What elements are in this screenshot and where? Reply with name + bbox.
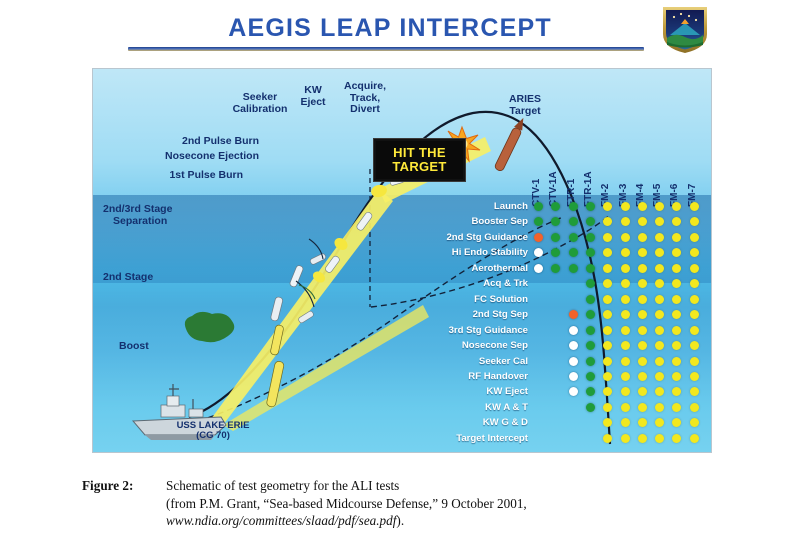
matrix-dot xyxy=(586,341,595,350)
figure-caption: Figure 2: Schematic of test geometry for… xyxy=(82,477,722,530)
matrix-dot xyxy=(672,341,681,350)
matrix-dot xyxy=(655,217,664,226)
caption-url: www.ndia.org/committees/slaad/pdf/sea.pd… xyxy=(166,513,396,528)
matrix-dot xyxy=(603,310,612,319)
caption-line-2: (from P.M. Grant, “Sea-based Midcourse D… xyxy=(166,495,722,513)
matrix-dot xyxy=(638,341,647,350)
matrix-dot xyxy=(586,372,595,381)
matrix-dot xyxy=(655,418,664,427)
matrix-dot xyxy=(672,217,681,226)
matrix-dot xyxy=(690,403,699,412)
matrix-dot xyxy=(621,248,630,257)
matrix-dot xyxy=(586,233,595,242)
matrix-dot xyxy=(638,326,647,335)
matrix-dot xyxy=(638,372,647,381)
caption-line-1: Schematic of test geometry for the ALI t… xyxy=(166,477,722,495)
matrix-dot xyxy=(569,217,578,226)
matrix-dot xyxy=(655,202,664,211)
matrix-row-label: 2nd Stg Guidance xyxy=(446,232,528,243)
title-divider xyxy=(128,47,644,51)
matrix-dot xyxy=(569,310,578,319)
matrix-dot xyxy=(638,264,647,273)
figure-page: AEGIS LEAP INTERCEPT xyxy=(0,0,801,558)
matrix-dot xyxy=(655,233,664,242)
matrix-dot xyxy=(534,217,543,226)
matrix-dot xyxy=(690,310,699,319)
caption-line-3-tail: ). xyxy=(396,513,404,528)
matrix-dot xyxy=(655,434,664,443)
diagram-panel: HIT THE TARGET Seeker Calibration KW Eje… xyxy=(92,68,712,453)
matrix-dot xyxy=(690,248,699,257)
caption-line-3: www.ndia.org/committees/slaad/pdf/sea.pd… xyxy=(166,512,722,530)
matrix-dot xyxy=(621,372,630,381)
matrix-dot xyxy=(534,264,543,273)
matrix-dot xyxy=(638,403,647,412)
matrix-dot xyxy=(603,217,612,226)
matrix-dot xyxy=(638,233,647,242)
matrix-dot xyxy=(638,387,647,396)
matrix-dot xyxy=(586,264,595,273)
matrix-dot xyxy=(690,341,699,350)
matrix-dot xyxy=(603,341,612,350)
matrix-dot xyxy=(672,357,681,366)
matrix-dot xyxy=(672,233,681,242)
matrix-row-label: KW A & T xyxy=(485,402,528,413)
matrix-dot xyxy=(534,248,543,257)
matrix-dot xyxy=(603,279,612,288)
matrix-dot xyxy=(638,434,647,443)
matrix-dot xyxy=(621,217,630,226)
matrix-dot xyxy=(569,387,578,396)
matrix-dot xyxy=(586,279,595,288)
matrix-dot xyxy=(672,310,681,319)
matrix-dot xyxy=(638,310,647,319)
matrix-dot xyxy=(603,233,612,242)
slide-header: AEGIS LEAP INTERCEPT xyxy=(0,0,801,58)
matrix-dot xyxy=(603,295,612,304)
matrix-dot xyxy=(638,248,647,257)
matrix-row-label: Aerothermal xyxy=(471,263,528,274)
matrix-dot xyxy=(551,264,560,273)
matrix-row-label: Acq & Trk xyxy=(483,278,528,289)
matrix-row-label: Seeker Cal xyxy=(479,356,528,367)
matrix-dot xyxy=(569,202,578,211)
matrix-dot xyxy=(638,217,647,226)
matrix-dot xyxy=(534,233,543,242)
matrix-dot xyxy=(655,310,664,319)
matrix-dot xyxy=(586,357,595,366)
matrix-dot xyxy=(551,233,560,242)
matrix-dot xyxy=(569,341,578,350)
matrix-dot xyxy=(655,357,664,366)
matrix-dot xyxy=(690,326,699,335)
matrix-dot xyxy=(586,248,595,257)
matrix-dot xyxy=(621,326,630,335)
matrix-dot xyxy=(621,341,630,350)
matrix-dot xyxy=(621,264,630,273)
matrix-dot xyxy=(569,264,578,273)
matrix-dot xyxy=(621,202,630,211)
matrix-dot xyxy=(586,202,595,211)
matrix-dot xyxy=(672,387,681,396)
caption-label: Figure 2: xyxy=(82,477,133,495)
matrix-dot xyxy=(655,295,664,304)
matrix-row-label: Booster Sep xyxy=(471,216,528,227)
matrix-dot xyxy=(690,279,699,288)
matrix-dot xyxy=(621,418,630,427)
matrix-dot xyxy=(672,434,681,443)
matrix-dot xyxy=(638,202,647,211)
matrix-dot xyxy=(586,403,595,412)
matrix-dot xyxy=(586,295,595,304)
matrix-dot xyxy=(569,248,578,257)
matrix-dot xyxy=(621,295,630,304)
matrix-dot xyxy=(569,326,578,335)
matrix-dot xyxy=(672,326,681,335)
matrix-row-label: FC Solution xyxy=(474,294,528,305)
matrix-dot xyxy=(655,403,664,412)
matrix-dot xyxy=(621,387,630,396)
matrix-dot xyxy=(621,279,630,288)
matrix-dot xyxy=(672,279,681,288)
aegis-shield-emblem xyxy=(657,4,713,56)
matrix-dot xyxy=(603,372,612,381)
matrix-dot xyxy=(655,341,664,350)
matrix-dot xyxy=(603,248,612,257)
matrix-dot xyxy=(690,387,699,396)
matrix-dot xyxy=(672,264,681,273)
matrix-row-label: Launch xyxy=(494,201,528,212)
matrix-row-label: 3rd Stg Guidance xyxy=(449,325,528,336)
matrix-dot xyxy=(621,434,630,443)
matrix-dot xyxy=(621,357,630,366)
matrix-dot xyxy=(603,403,612,412)
matrix-dot xyxy=(603,387,612,396)
matrix-dot xyxy=(690,264,699,273)
matrix-dot xyxy=(655,326,664,335)
matrix-dot xyxy=(603,326,612,335)
matrix-row-label: Nosecone Sep xyxy=(462,340,528,351)
matrix-dot xyxy=(569,233,578,242)
matrix-dot xyxy=(690,233,699,242)
matrix-dot xyxy=(569,357,578,366)
matrix-row-label: KW Eject xyxy=(486,386,528,397)
matrix-row-label: RF Handover xyxy=(468,371,528,382)
matrix-dot xyxy=(534,202,543,211)
matrix-dot xyxy=(690,372,699,381)
matrix-dot xyxy=(586,326,595,335)
matrix-dot xyxy=(621,403,630,412)
matrix-dot xyxy=(638,418,647,427)
matrix-dot xyxy=(672,295,681,304)
matrix-dot xyxy=(672,248,681,257)
page-title: AEGIS LEAP INTERCEPT xyxy=(120,14,660,43)
matrix-dot xyxy=(655,279,664,288)
matrix-dot xyxy=(603,434,612,443)
matrix-row-label: KW G & D xyxy=(483,417,528,428)
matrix-dot xyxy=(690,217,699,226)
matrix-dot xyxy=(655,387,664,396)
matrix-dot xyxy=(690,418,699,427)
matrix-dot xyxy=(586,387,595,396)
matrix-dot xyxy=(638,295,647,304)
matrix-row-label: 2nd Stg Sep xyxy=(473,309,528,320)
matrix-dot xyxy=(603,264,612,273)
matrix-dot xyxy=(655,264,664,273)
matrix-dot xyxy=(690,434,699,443)
matrix-dot xyxy=(586,310,595,319)
matrix-dot xyxy=(690,295,699,304)
matrix-dot xyxy=(551,248,560,257)
matrix-dot xyxy=(672,418,681,427)
matrix-dot xyxy=(638,279,647,288)
matrix-dot xyxy=(655,248,664,257)
matrix-dot xyxy=(569,372,578,381)
matrix-dot xyxy=(638,357,647,366)
matrix-row-label: Target Intercept xyxy=(456,433,528,444)
matrix-dot xyxy=(551,202,560,211)
matrix-dot xyxy=(672,372,681,381)
matrix-dot xyxy=(655,372,664,381)
matrix-row-label: Hi Endo Stability xyxy=(452,247,528,258)
matrix-dot xyxy=(621,233,630,242)
test-event-matrix: CTV-1CTV-1AFTR-1FTR-1AFM-2FM-3FM-4FM-5FM… xyxy=(93,69,711,452)
matrix-dot xyxy=(586,217,595,226)
matrix-dot xyxy=(603,357,612,366)
matrix-dot xyxy=(603,202,612,211)
matrix-dot xyxy=(672,202,681,211)
matrix-dot xyxy=(603,418,612,427)
matrix-dot xyxy=(690,202,699,211)
matrix-dot xyxy=(551,217,560,226)
matrix-dot xyxy=(621,310,630,319)
matrix-dot xyxy=(690,357,699,366)
matrix-dot xyxy=(672,403,681,412)
